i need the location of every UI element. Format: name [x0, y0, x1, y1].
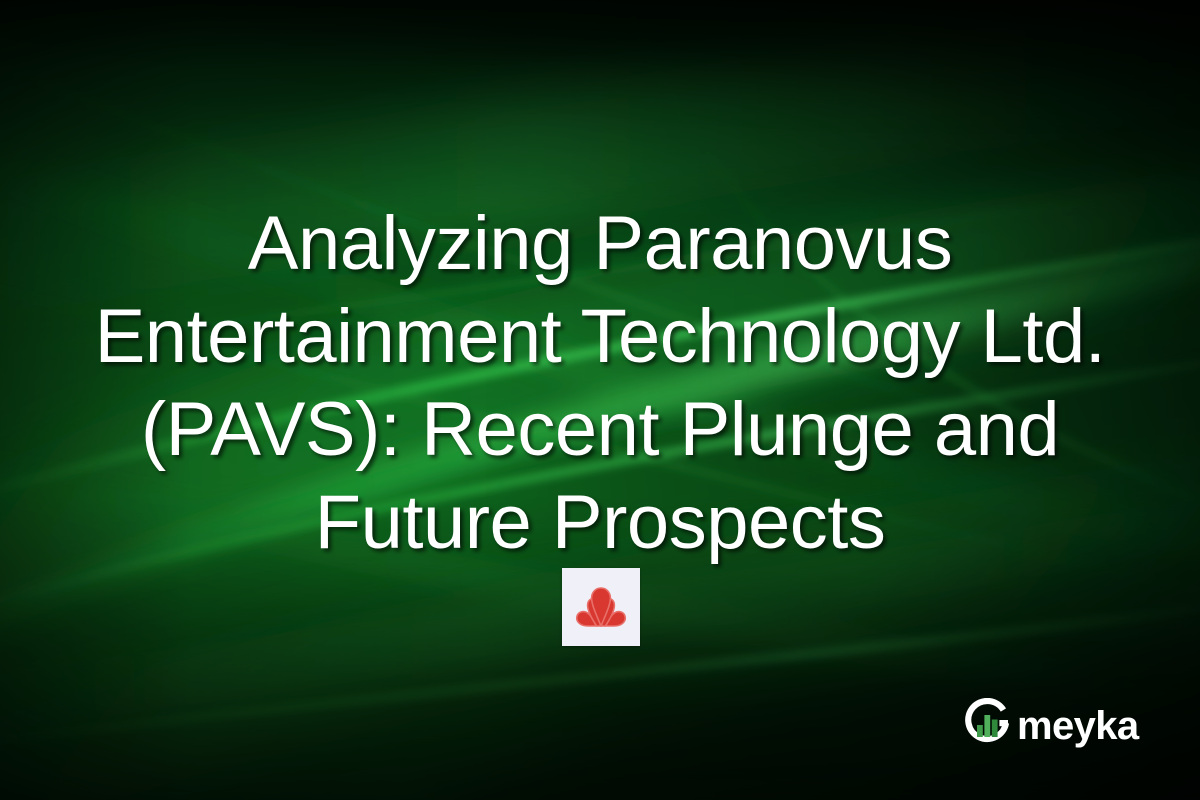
share-card: Analyzing Paranovus Entertainment Techno… [0, 0, 1200, 800]
meyka-brand: meyka [962, 698, 1139, 753]
company-logo-badge [562, 568, 640, 646]
meyka-circle-bars-icon [962, 698, 1012, 753]
card-title: Analyzing Paranovus Entertainment Techno… [0, 197, 1200, 569]
peacock-fan-icon [575, 587, 627, 627]
meyka-wordmark: meyka [1017, 706, 1139, 746]
